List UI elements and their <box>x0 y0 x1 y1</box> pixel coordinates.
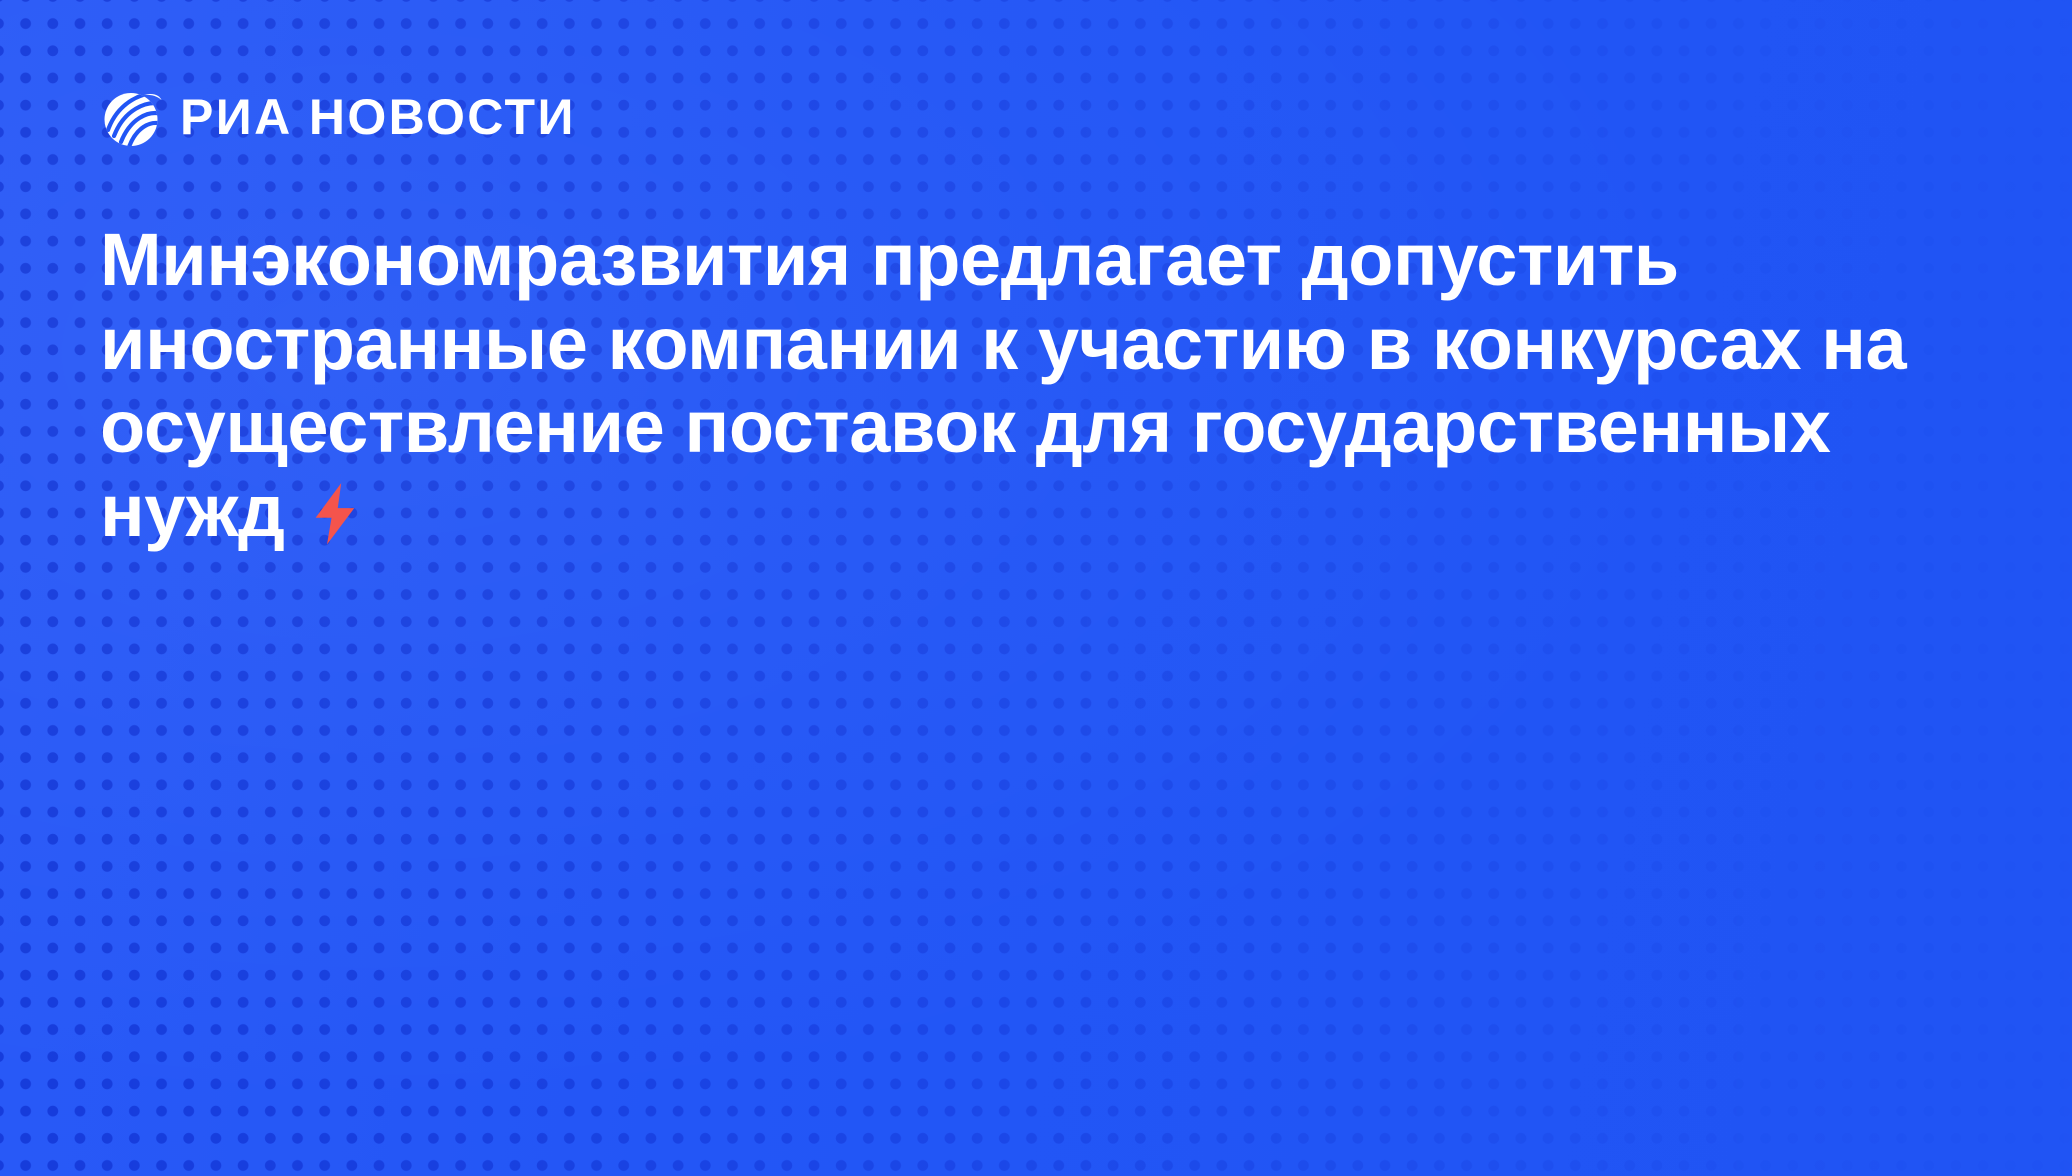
headline: Минэкономразвития предлагает допустить и… <box>100 218 1930 552</box>
news-card: РИА НОВОСТИ Минэкономразвития предлагает… <box>0 0 2072 1176</box>
ria-novosti-logo[interactable]: РИА НОВОСТИ <box>100 86 576 148</box>
ria-globe-sphere-icon <box>100 86 162 148</box>
lightning-bolt-icon <box>312 482 358 546</box>
background-dot-pattern <box>0 0 2072 1176</box>
ria-novosti-wordmark: РИА НОВОСТИ <box>180 92 576 142</box>
headline-text: Минэкономразвития предлагает допустить и… <box>100 218 1926 552</box>
